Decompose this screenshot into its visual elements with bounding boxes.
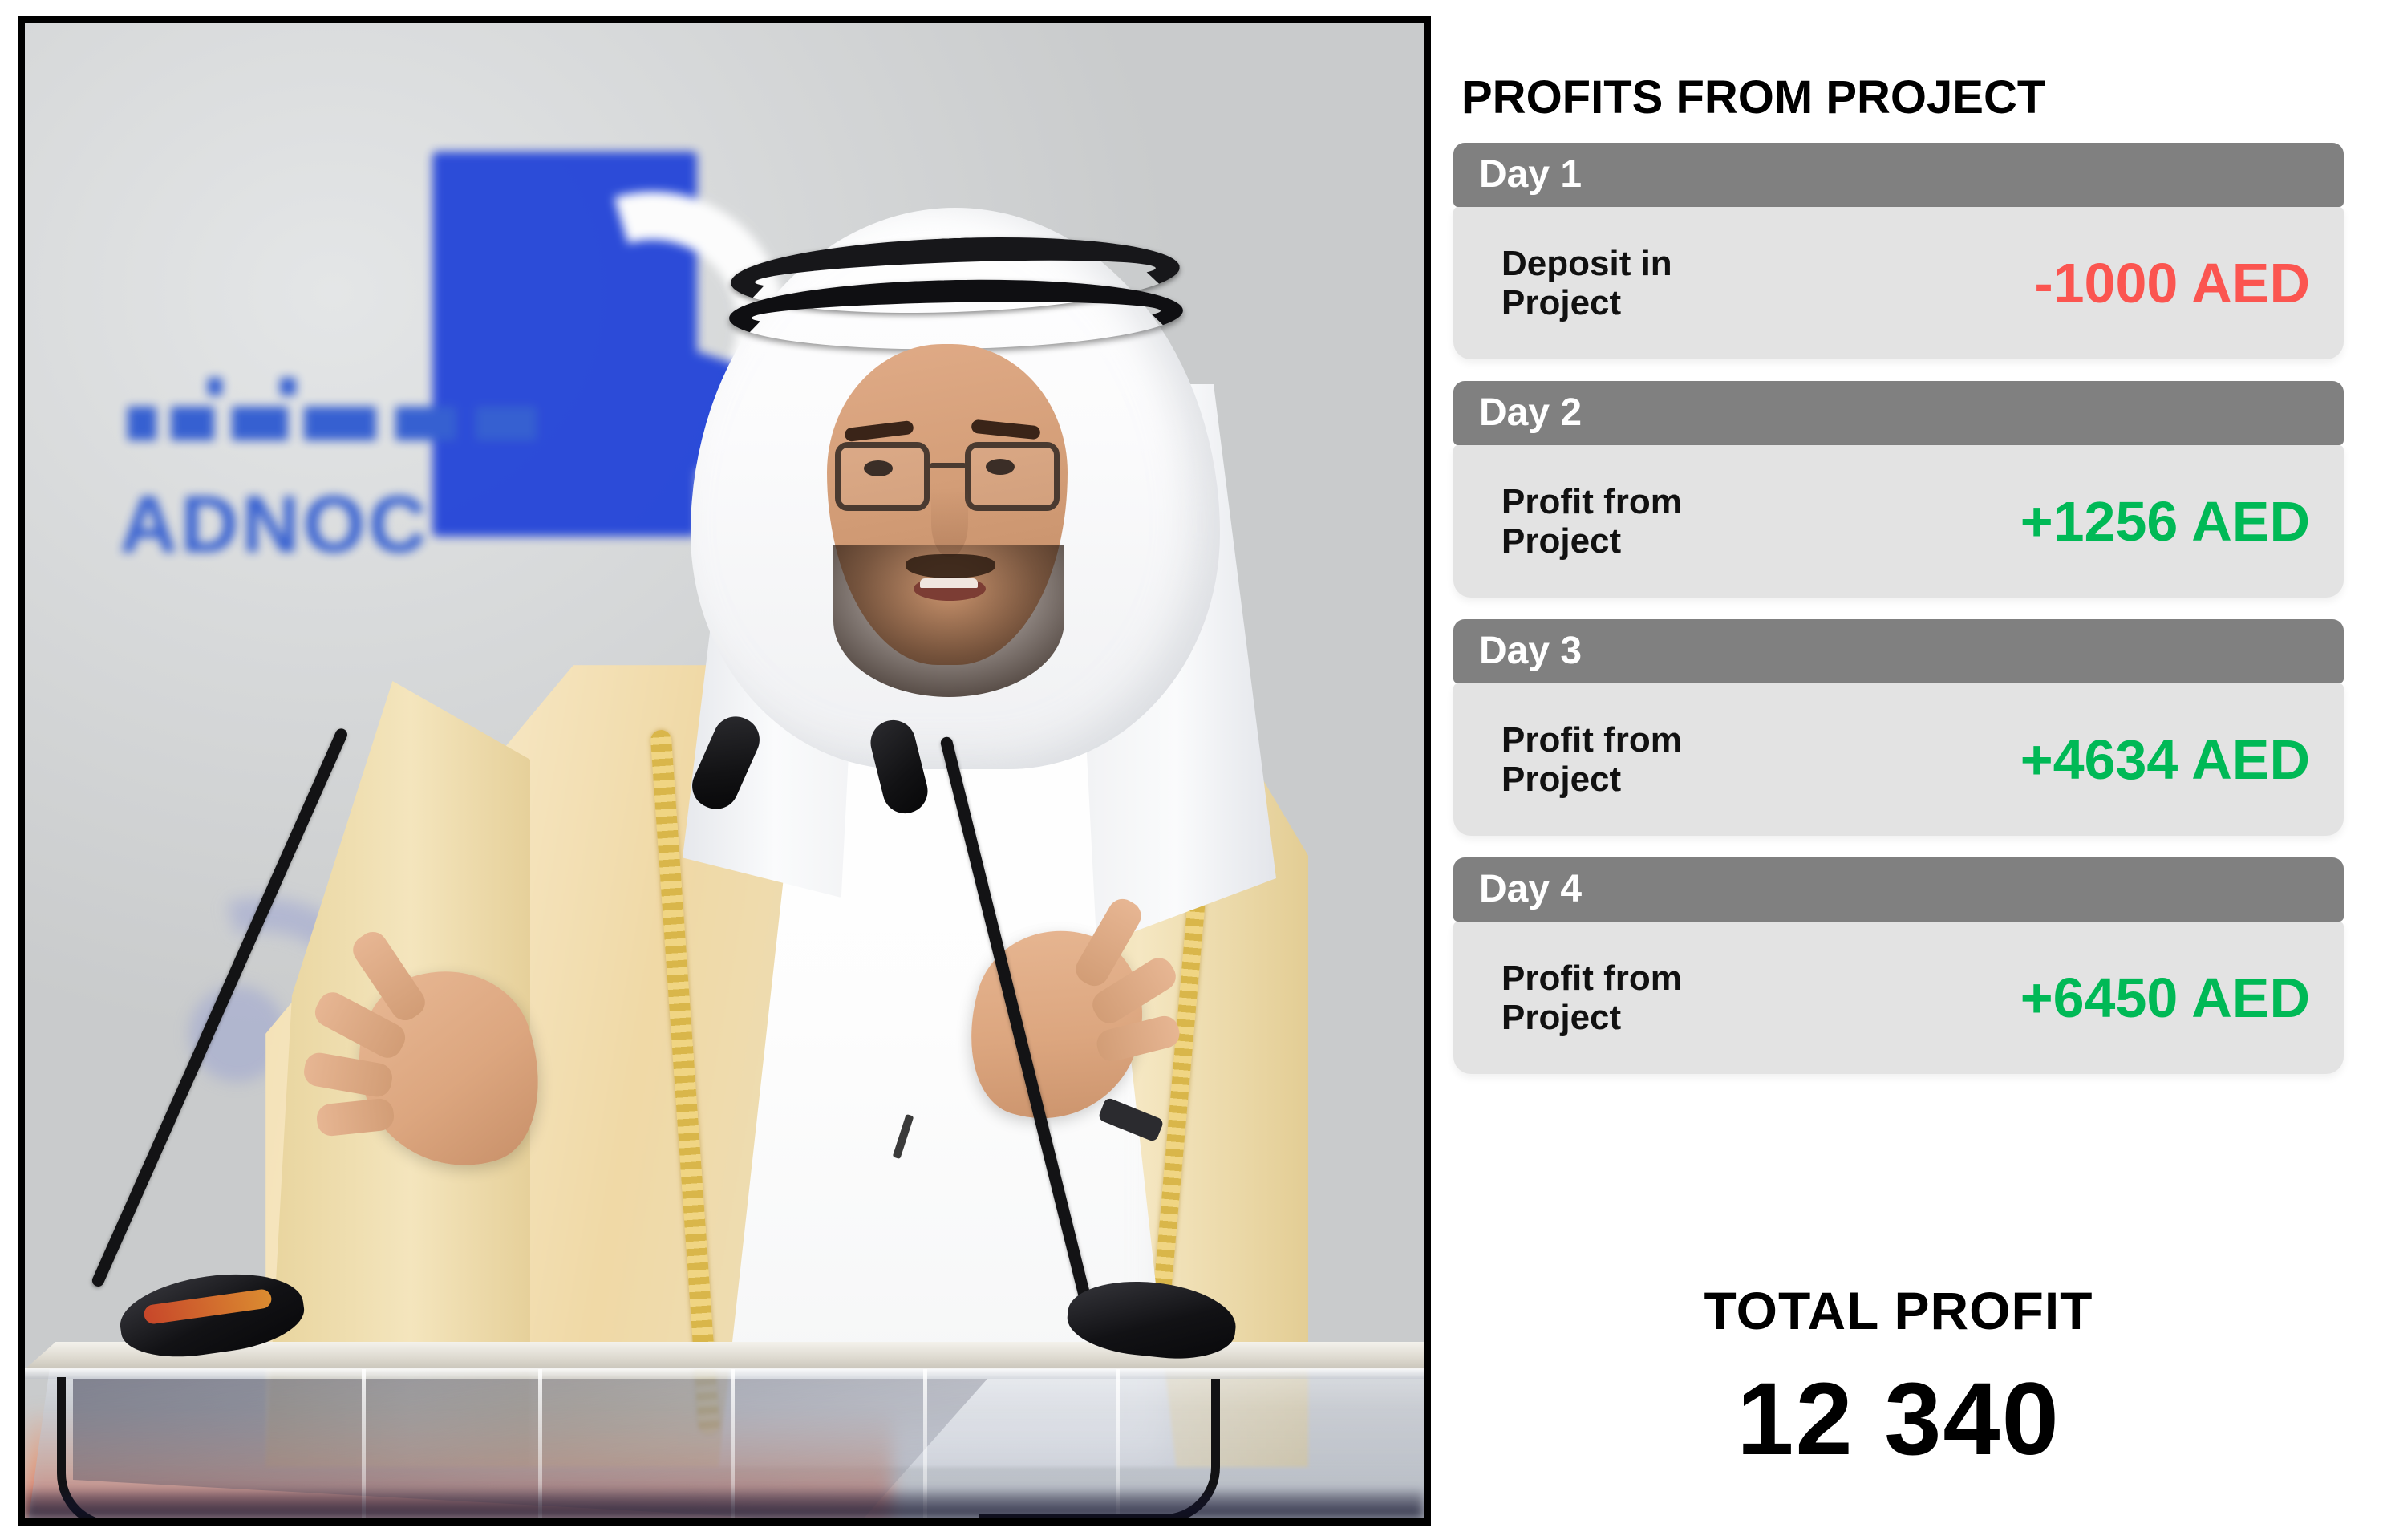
entry-description: Profit from Project (1501, 958, 1682, 1038)
day-label: Day 1 (1479, 156, 1582, 194)
moustache (906, 554, 995, 578)
infographic-page: ADNOC (0, 0, 2391, 1540)
entry-description: Deposit in Project (1501, 244, 1672, 323)
day-card[interactable]: Day 3 Profit from Project +4634 AED (1453, 619, 2344, 836)
total-profit-value: 12 340 (1453, 1360, 2344, 1478)
entry-description-line2: Project (1501, 521, 1621, 561)
teeth (920, 578, 978, 588)
day-card[interactable]: Day 1 Deposit in Project -1000 AED (1453, 143, 2344, 359)
speaker-photo: ADNOC (18, 16, 1431, 1526)
entry-description-line2: Project (1501, 760, 1621, 799)
entry-description-line2: Project (1501, 998, 1621, 1037)
entry-amount: +1256 AED (2020, 493, 2310, 549)
entry-description: Profit from Project (1501, 482, 1682, 561)
panel-title: PROFITS FROM PROJECT (1461, 71, 2045, 124)
entry-description-line1: Profit from (1501, 720, 1682, 760)
total-profit-label: TOTAL PROFIT (1453, 1280, 2344, 1341)
day-card-header: Day 2 (1453, 381, 2344, 445)
entry-description-line2: Project (1501, 283, 1621, 322)
day-card-body: Profit from Project +6450 AED (1453, 922, 2344, 1074)
entry-description: Profit from Project (1501, 720, 1682, 800)
glasses-bridge (930, 463, 967, 468)
day-card-header: Day 3 (1453, 619, 2344, 683)
day-card-header: Day 1 (1453, 143, 2344, 207)
entry-description-line1: Deposit in (1501, 244, 1672, 283)
day-card-body: Deposit in Project -1000 AED (1453, 207, 2344, 359)
day-card-body: Profit from Project +1256 AED (1453, 445, 2344, 598)
day-cards-list: Day 1 Deposit in Project -1000 AED Day 2 (1453, 143, 2344, 1096)
photo-inner: ADNOC (25, 23, 1424, 1518)
day-label: Day 4 (1479, 870, 1582, 909)
total-profit-block: TOTAL PROFIT 12 340 (1453, 1280, 2344, 1478)
entry-amount: +6450 AED (2020, 970, 2310, 1026)
lens-right (965, 442, 1060, 511)
lens-left (835, 442, 930, 511)
day-card-header: Day 4 (1453, 857, 2344, 922)
day-label: Day 3 (1479, 632, 1582, 671)
day-card-body: Profit from Project +4634 AED (1453, 683, 2344, 836)
profits-panel: PROFITS FROM PROJECT Day 1 Deposit in Pr… (1453, 0, 2352, 1540)
entry-amount: +4634 AED (2020, 731, 2310, 788)
entry-amount: -1000 AED (2034, 255, 2310, 311)
day-card[interactable]: Day 2 Profit from Project +1256 AED (1453, 381, 2344, 598)
day-card[interactable]: Day 4 Profit from Project +6450 AED (1453, 857, 2344, 1074)
day-label: Day 2 (1479, 394, 1582, 432)
entry-description-line1: Profit from (1501, 958, 1682, 998)
entry-description-line1: Profit from (1501, 482, 1682, 521)
stage-floor-shadow (25, 1491, 1424, 1518)
